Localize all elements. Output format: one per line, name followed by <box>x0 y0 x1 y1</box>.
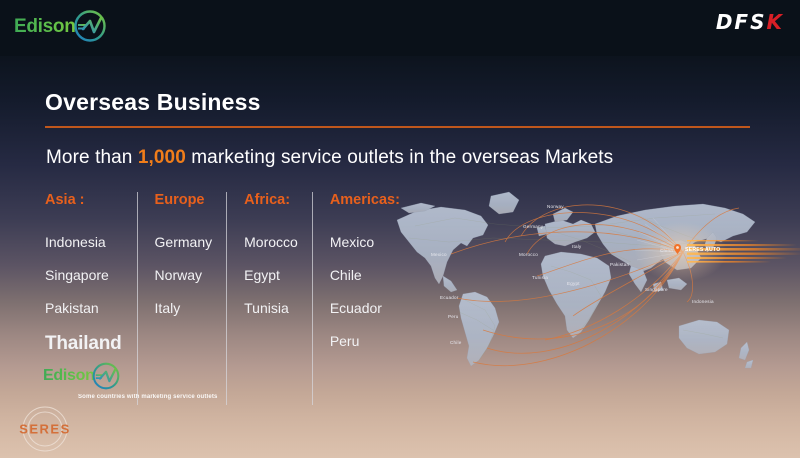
country-item: Chile <box>330 267 400 283</box>
footnote-text: Some countries with marketing service ou… <box>78 394 217 400</box>
world-map-graphic <box>395 180 800 390</box>
country-item: Pakistan <box>45 300 123 316</box>
region-column-asia: Asia : Indonesia Singapore Pakistan Thai… <box>45 192 137 393</box>
map-label: Chile <box>450 340 461 345</box>
dfsk-wordmark: DFS <box>716 12 767 32</box>
slide-canvas: Edison D <box>0 0 800 458</box>
region-column-africa: Africa: Morocco Egypt Tunisia <box>226 192 312 393</box>
location-pin-icon <box>674 244 681 254</box>
edison-ev-circle-icon <box>89 359 123 393</box>
map-label: China <box>660 248 673 253</box>
map-hub-label: SERES AUTO <box>685 247 720 253</box>
subtitle: More than 1,000 marketing service outlet… <box>46 147 613 169</box>
column-divider <box>312 192 313 405</box>
edison-ev-circle-icon <box>70 6 110 46</box>
region-column-europe: Europe Germany Norway Italy <box>137 192 227 393</box>
region-columns: Asia : Indonesia Singapore Pakistan Thai… <box>45 192 414 393</box>
map-label: Indonesia <box>692 299 714 304</box>
seres-logo: SERES <box>6 404 84 454</box>
edison-ev-logo: Edison <box>14 6 110 46</box>
column-divider <box>137 192 138 405</box>
country-item: Morocco <box>244 234 298 250</box>
map-label: Peru <box>448 314 459 319</box>
country-item-featured: Thailand <box>45 333 123 355</box>
country-item: Germany <box>155 234 213 250</box>
country-item: Ecuador <box>330 300 400 316</box>
edison-wordmark: Edison <box>14 17 76 36</box>
country-item: Indonesia <box>45 234 123 250</box>
country-item: Norway <box>155 267 213 283</box>
country-item: Tunisia <box>244 300 298 316</box>
map-label: Morocco <box>519 252 538 257</box>
map-label: Norway <box>547 204 564 209</box>
title-underline-rule <box>45 126 750 128</box>
map-label: Mexico <box>431 252 447 257</box>
edison-ev-logo-inline: Edison <box>43 359 123 393</box>
map-label: Pakistan <box>610 262 629 267</box>
map-label: Singapore <box>645 287 668 292</box>
column-divider <box>226 192 227 405</box>
region-header-europe: Europe <box>155 192 213 208</box>
region-header-africa: Africa: <box>244 192 298 208</box>
world-map: SERES AUTO Norway Germany Italy Mexico M… <box>395 180 800 390</box>
country-item: Singapore <box>45 267 123 283</box>
subtitle-before: More than <box>46 147 138 168</box>
seres-wordmark: SERES <box>19 422 71 437</box>
header-bar <box>0 0 800 56</box>
map-label: Tunisia <box>532 275 548 280</box>
dfsk-accent-letter: K <box>767 12 785 32</box>
region-header-asia: Asia : <box>45 192 123 208</box>
country-item: Mexico <box>330 234 400 250</box>
map-label: Ecuador <box>440 295 459 300</box>
map-label: Germany <box>523 224 543 229</box>
map-label: Italy <box>572 244 581 249</box>
country-item: Egypt <box>244 267 298 283</box>
dfsk-logo: DFSK <box>716 12 784 32</box>
page-title: Overseas Business <box>45 89 261 116</box>
region-header-americas: Americas: <box>330 192 400 208</box>
subtitle-after: marketing service outlets in the oversea… <box>186 147 613 168</box>
subtitle-highlight-count: 1,000 <box>138 147 186 168</box>
edison-wordmark: Edison <box>43 368 95 384</box>
country-item: Italy <box>155 300 213 316</box>
map-label: Egypt <box>567 281 580 286</box>
country-item: Peru <box>330 333 400 349</box>
